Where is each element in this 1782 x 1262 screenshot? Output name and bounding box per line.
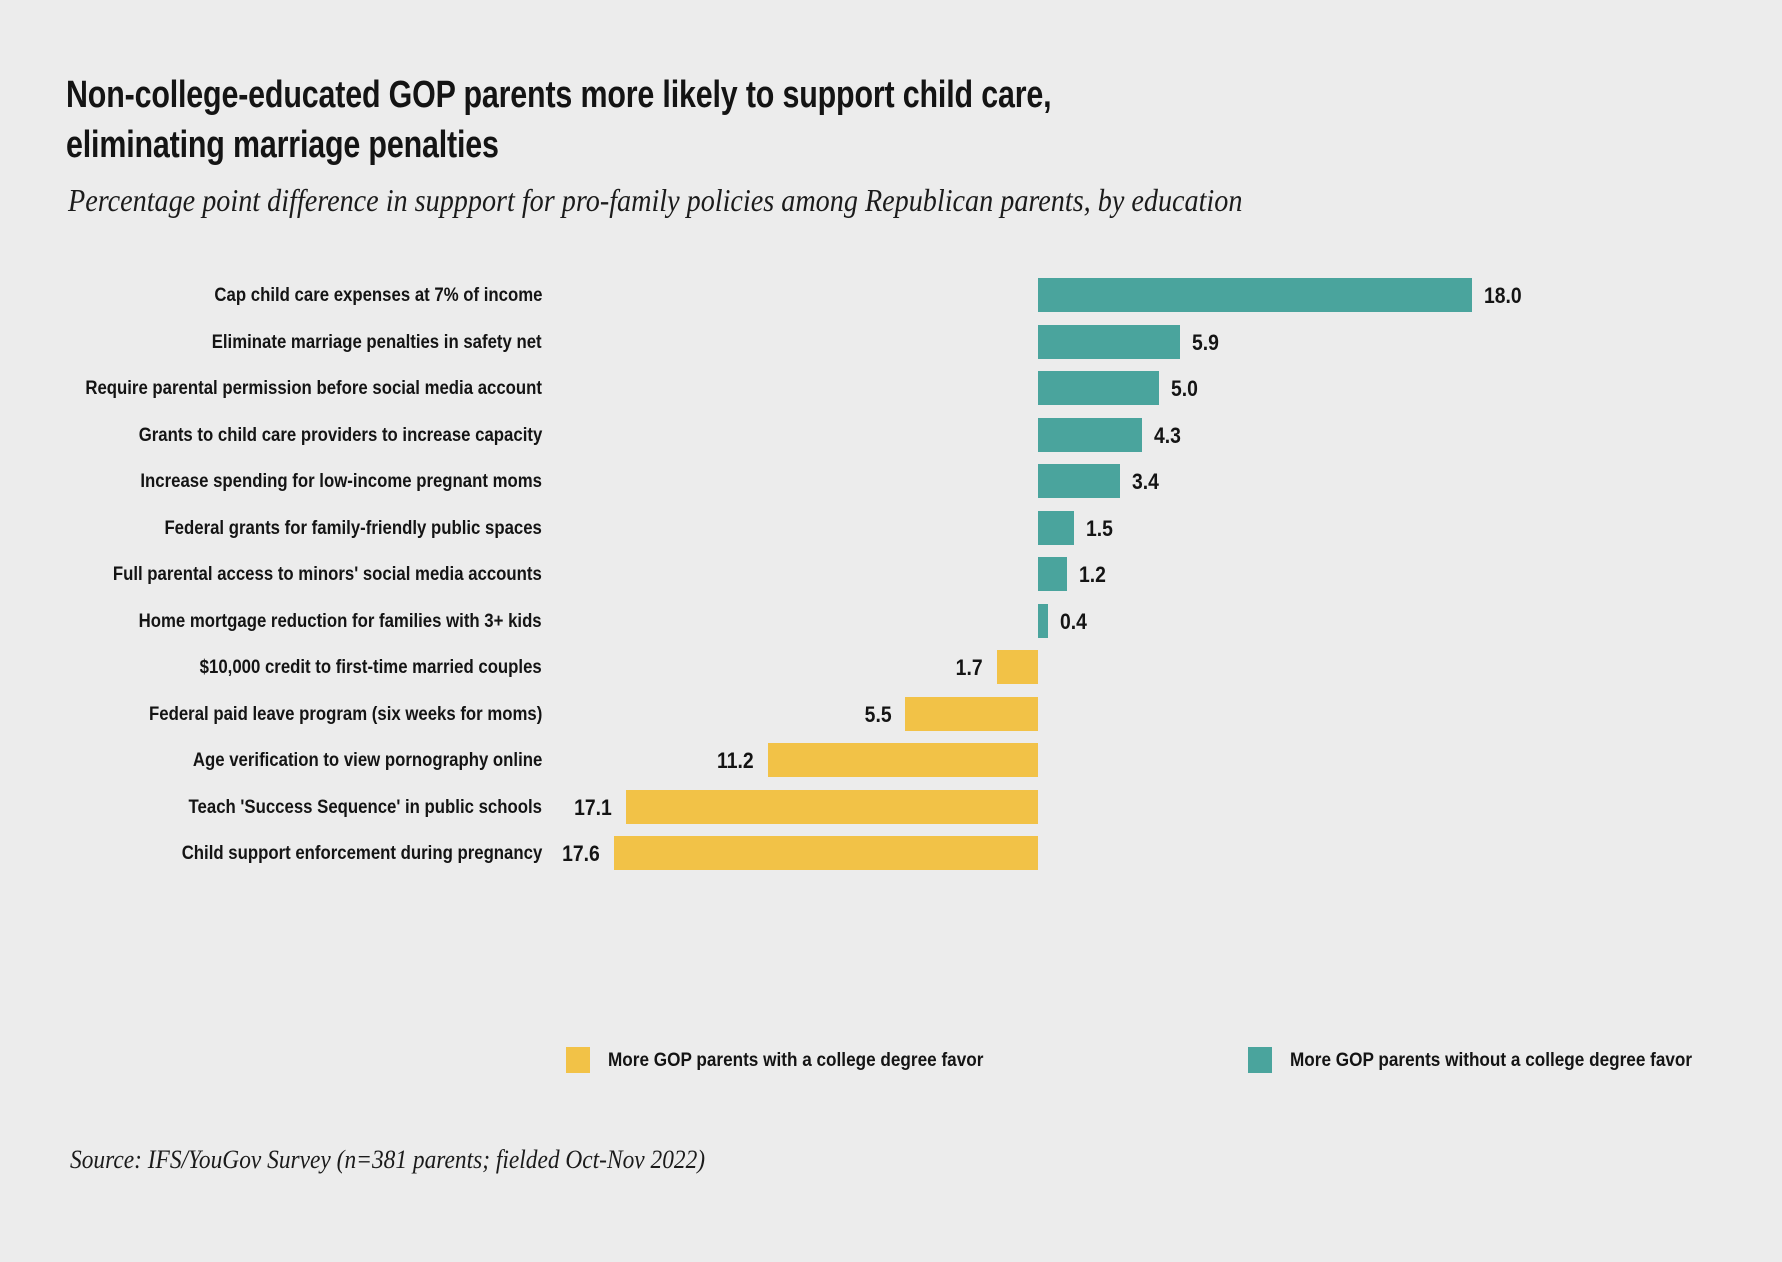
bar-row: Child support enforcement during pregnan… xyxy=(0,830,1782,877)
legend-swatch-teal xyxy=(1248,1047,1272,1073)
bar-value-label: 5.5 xyxy=(865,691,892,738)
bar-plot-area: 11.2 xyxy=(0,737,1782,784)
legend-swatch-yellow xyxy=(566,1047,590,1073)
page-subtitle: Percentage point difference in suppport … xyxy=(68,182,1652,218)
source-note: Source: IFS/YouGov Survey (n=381 parents… xyxy=(70,1145,705,1175)
bar-without-college xyxy=(1038,418,1142,452)
bar-plot-area: 17.1 xyxy=(0,784,1782,831)
bar-with-college xyxy=(626,790,1038,824)
bar-plot-area: 0.4 xyxy=(0,598,1782,645)
legend-label-without-college: More GOP parents without a college degre… xyxy=(1290,1049,1692,1072)
bar-row: Teach 'Success Sequence' in public schoo… xyxy=(0,784,1782,831)
bar-row: Age verification to view pornography onl… xyxy=(0,737,1782,784)
bar-plot-area: 18.0 xyxy=(0,272,1782,319)
page-title: Non-college-educated GOP parents more li… xyxy=(66,70,1266,170)
bar-value-label: 18.0 xyxy=(1484,272,1522,319)
bar-value-label: 5.0 xyxy=(1171,365,1198,412)
chart-legend: More GOP parents with a college degree f… xyxy=(0,1040,1782,1080)
bar-value-label: 17.6 xyxy=(562,830,600,877)
bar-row: Increase spending for low-income pregnan… xyxy=(0,458,1782,505)
bar-plot-area: 1.2 xyxy=(0,551,1782,598)
bar-with-college xyxy=(768,743,1038,777)
bar-plot-area: 3.4 xyxy=(0,458,1782,505)
bar-value-label: 5.9 xyxy=(1192,319,1219,366)
bar-row: Cap child care expenses at 7% of income1… xyxy=(0,272,1782,319)
bar-row: Eliminate marriage penalties in safety n… xyxy=(0,319,1782,366)
bar-value-label: 11.2 xyxy=(717,737,754,784)
bar-plot-area: 5.9 xyxy=(0,319,1782,366)
bar-value-label: 1.7 xyxy=(956,644,983,691)
bar-without-college xyxy=(1038,325,1180,359)
bar-without-college xyxy=(1038,557,1067,591)
bar-value-label: 17.1 xyxy=(574,784,612,831)
legend-item-without-college: More GOP parents without a college degre… xyxy=(1248,1040,1747,1080)
bar-with-college xyxy=(905,697,1038,731)
bar-with-college xyxy=(614,836,1038,870)
bar-plot-area: 5.5 xyxy=(0,691,1782,738)
bar-chart: Cap child care expenses at 7% of income1… xyxy=(0,272,1782,892)
legend-label-with-college: More GOP parents with a college degree f… xyxy=(608,1049,983,1072)
bar-without-college xyxy=(1038,278,1472,312)
bar-plot-area: 4.3 xyxy=(0,412,1782,459)
bar-with-college xyxy=(997,650,1038,684)
bar-value-label: 1.2 xyxy=(1079,551,1106,598)
bar-without-college xyxy=(1038,511,1074,545)
bar-plot-area: 1.5 xyxy=(0,505,1782,552)
bar-without-college xyxy=(1038,371,1159,405)
bar-row: Grants to child care providers to increa… xyxy=(0,412,1782,459)
bar-without-college xyxy=(1038,464,1120,498)
bar-row: Full parental access to minors' social m… xyxy=(0,551,1782,598)
legend-item-with-college: More GOP parents with a college degree f… xyxy=(566,1040,1035,1080)
bar-plot-area: 5.0 xyxy=(0,365,1782,412)
bar-row: Federal grants for family-friendly publi… xyxy=(0,505,1782,552)
bar-plot-area: 1.7 xyxy=(0,644,1782,691)
bar-value-label: 0.4 xyxy=(1060,598,1087,645)
bar-value-label: 3.4 xyxy=(1132,458,1159,505)
bar-without-college xyxy=(1038,604,1048,638)
bar-row: $10,000 credit to first-time married cou… xyxy=(0,644,1782,691)
bar-row: Require parental permission before socia… xyxy=(0,365,1782,412)
bar-plot-area: 17.6 xyxy=(0,830,1782,877)
chart-page: { "title": "Non-college-educated GOP par… xyxy=(0,0,1782,1262)
bar-row: Federal paid leave program (six weeks fo… xyxy=(0,691,1782,738)
bar-row: Home mortgage reduction for families wit… xyxy=(0,598,1782,645)
bar-value-label: 1.5 xyxy=(1086,505,1113,552)
bar-value-label: 4.3 xyxy=(1154,412,1181,459)
